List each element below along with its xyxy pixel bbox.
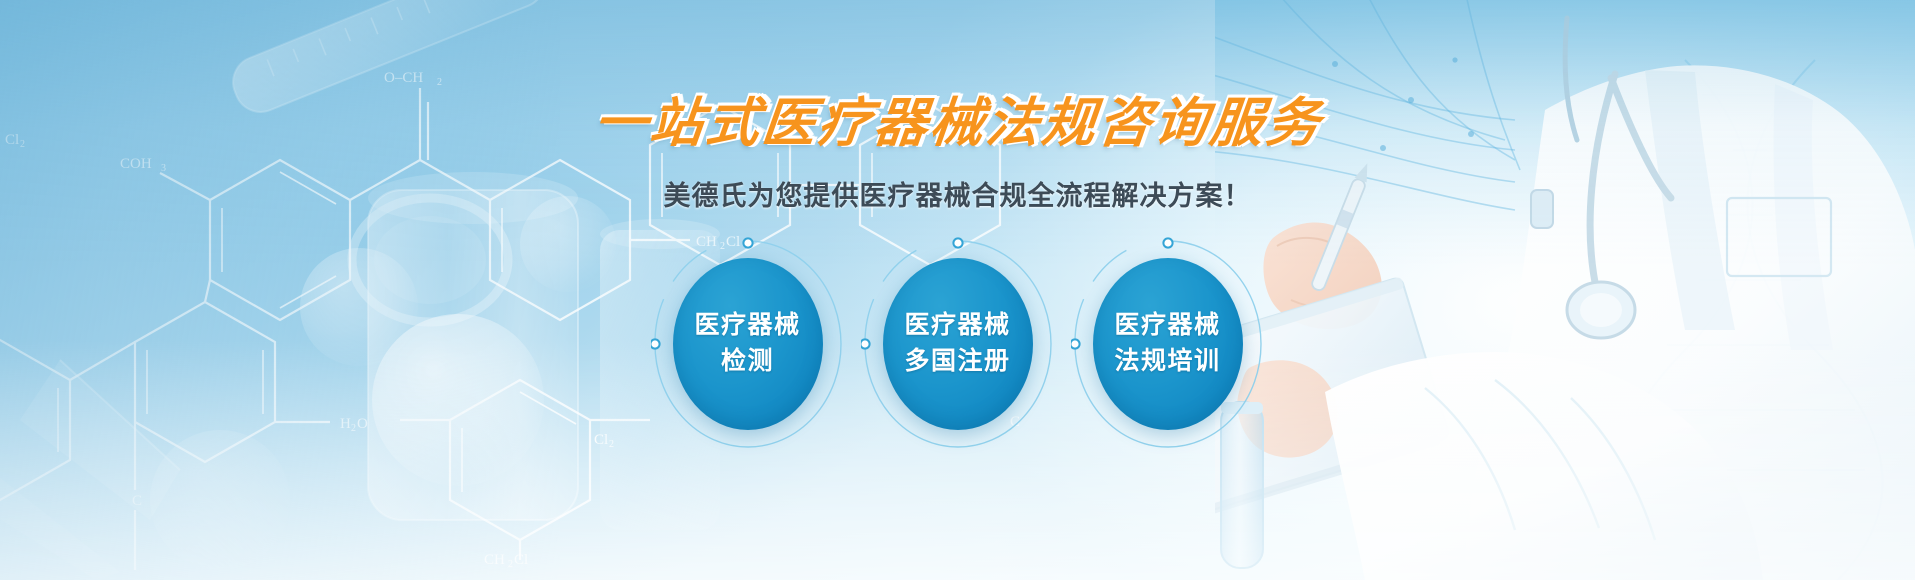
service-pill-1[interactable]: 医疗器械 检测 <box>673 258 823 430</box>
service-circle-2[interactable]: 医疗器械 多国注册 <box>871 247 1045 441</box>
service-label-1-line1: 医疗器械 <box>694 308 800 344</box>
banner-headline: 一站式医疗器械法规咨询服务 <box>591 96 1325 152</box>
service-label-2-line2: 多国注册 <box>904 344 1010 380</box>
service-circle-3[interactable]: 医疗器械 法规培训 <box>1081 247 1255 441</box>
service-pill-2[interactable]: 医疗器械 多国注册 <box>883 258 1033 430</box>
service-circle-1[interactable]: 医疗器械 检测 <box>661 247 835 441</box>
ring-dot-top <box>743 238 752 247</box>
service-label-3-line2: 法规培训 <box>1114 344 1220 380</box>
ring-dot-left <box>1071 339 1080 348</box>
ring-dot-top <box>953 238 962 247</box>
ring-dot-left <box>651 339 660 348</box>
service-label-3-line1: 医疗器械 <box>1114 308 1220 344</box>
service-label-1-line2: 检测 <box>721 344 774 380</box>
service-pill-3[interactable]: 医疗器械 法规培训 <box>1093 258 1243 430</box>
hero-banner: Cl 2 COH 3 O–CH 2 CH 2 Cl H 2 O Cl C <box>0 0 1915 580</box>
banner-content: 一站式医疗器械法规咨询服务 美德氏为您提供医疗器械合规全流程解决方案！ 医疗器械 <box>0 0 1915 580</box>
banner-subheadline: 美德氏为您提供医疗器械合规全流程解决方案！ <box>664 174 1252 213</box>
service-label-2-line1: 医疗器械 <box>904 308 1010 344</box>
ring-dot-left <box>861 339 870 348</box>
ring-dot-top <box>1163 238 1172 247</box>
service-circles: 医疗器械 检测 医疗器械 多国注 <box>661 247 1255 441</box>
